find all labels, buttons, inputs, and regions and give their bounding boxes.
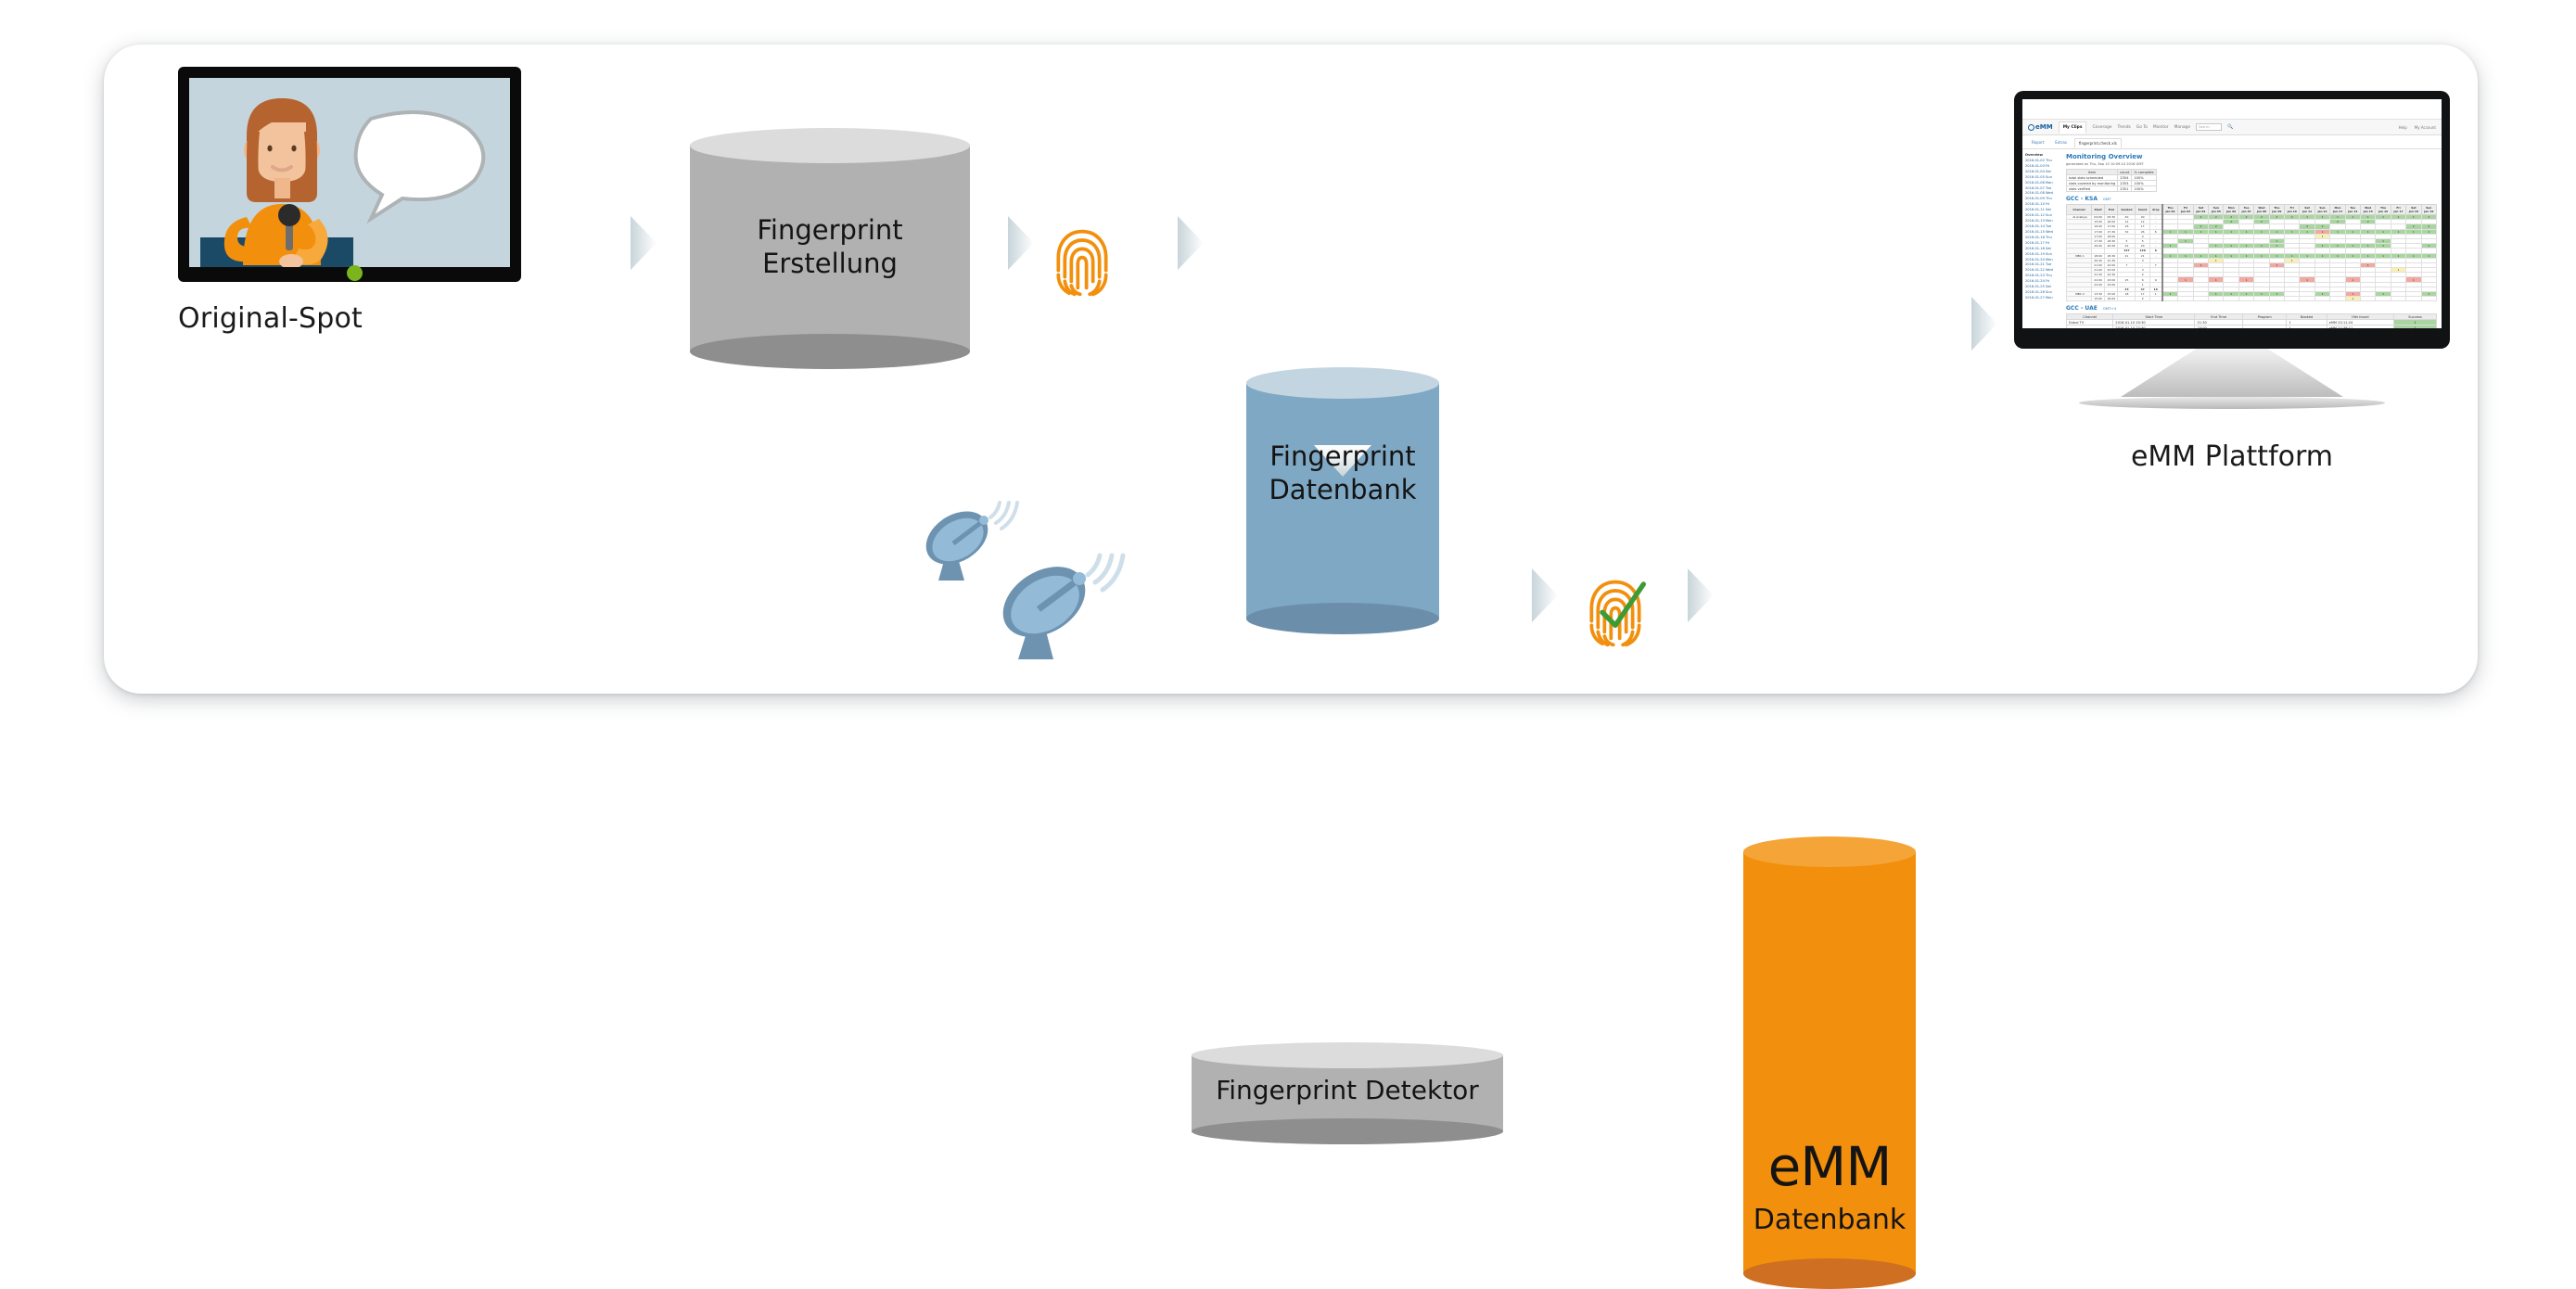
grid-day-cell: 1 (2345, 297, 2360, 301)
tv-frame (178, 67, 521, 282)
help-link[interactable]: Help (2399, 125, 2407, 130)
grid-day-cell (2300, 297, 2315, 301)
summary-cell: 2351 (2118, 186, 2132, 192)
tv-power-led (347, 265, 363, 281)
dashboard-body: Overview 2016-01-02 Thu2016-01-03 Fri201… (2022, 149, 2442, 328)
grid-col-header: Start (2092, 205, 2105, 215)
grid-day-cell (2315, 297, 2329, 301)
grid-day-cell (2421, 297, 2436, 301)
grid-day-header: TueJan 07 (2238, 205, 2253, 215)
region-header-uae: GCC - UAE GMT+4 (2066, 305, 2437, 312)
chevron-right-icon (1688, 568, 1714, 622)
original-spot-label: Original-Spot (178, 302, 549, 335)
emm-datenbank-node: eMM Datenbank (1743, 836, 1916, 1289)
region-name: GCC - KSA (2066, 196, 2098, 202)
grid-col-header: booked (2118, 205, 2136, 215)
grid-day-cell (2209, 297, 2224, 301)
nav-item-trends[interactable]: Trends (2117, 125, 2130, 130)
summary-cell: 100% (2132, 186, 2156, 192)
grid-day-header: FriJan 03 (2178, 205, 2193, 215)
emm-plattform-node: eMM My Clips Coverage Trends Go To Monit… (2014, 91, 2450, 473)
grid-day-header: MonJan 06 (2224, 205, 2238, 215)
search-input[interactable]: Search (2196, 123, 2222, 131)
uae-cell: 1 (2394, 325, 2437, 328)
monitor-stand (2121, 349, 2343, 397)
fingerprint-check-icon (1583, 571, 1648, 649)
search-icon[interactable]: 🔍 (2227, 124, 2233, 130)
fingerprint-detektor-node: Fingerprint Detektor (1192, 1042, 1503, 1144)
grid-day-cell (2285, 297, 2300, 301)
account-links: Help My Account (2399, 125, 2436, 130)
grid-cell-start: 15:00 (2092, 297, 2105, 301)
emm-logo: eMM (2028, 123, 2053, 131)
grid-day-header: SatJan 18 (2406, 205, 2421, 215)
dashboard-navbar: eMM My Clips Coverage Trends Go To Monit… (2022, 120, 2442, 135)
cylinder-top (690, 128, 970, 163)
chevron-right-icon (1178, 216, 1204, 270)
uae-cell: 23:00 (2195, 325, 2242, 328)
grid-cell-found: 2 (2136, 297, 2149, 301)
summary-table-body: total slots scheduled2354100%slots cover… (2067, 175, 2157, 192)
presenter-illustration (189, 78, 510, 267)
nav-item-monitor[interactable]: Monitor (2153, 125, 2169, 130)
emm-dashboard: eMM My Clips Coverage Trends Go To Monit… (2022, 99, 2442, 328)
grid-day-cell (2376, 297, 2391, 301)
uae-table: ChannelStart TimeEnd TimeProgramBookedHi… (2066, 313, 2437, 328)
region-header-ksa: GCC - KSA GMT (2066, 196, 2437, 202)
grid-day-header: SunJan 19 (2421, 205, 2436, 215)
grid-day-header: WedJan 08 (2254, 205, 2269, 215)
grid-row: 15:0016:0021 (2067, 297, 2437, 301)
cylinder-body (690, 145, 970, 352)
grid-day-cell (2406, 297, 2421, 301)
summary-cell: slots verified (2067, 186, 2118, 192)
grid-cell-channel (2067, 297, 2092, 301)
cylinder-top (1743, 836, 1916, 867)
fingerprint-erstellung-node: Fingerprint Erstellung (690, 128, 970, 369)
dashboard-main: Monitoring Overview generated on Thu, Se… (2061, 149, 2442, 328)
chevron-right-icon (1008, 216, 1034, 270)
grid-day-header: ThuJan 09 (2269, 205, 2284, 215)
diagram-card: Original-Spot Fingerprint Erstellung (104, 45, 2478, 694)
grid-day-cell (2178, 297, 2193, 301)
dashboard-subtabs: Report Extras fingerprint.check.xls (2022, 135, 2442, 149)
my-account-link[interactable]: My Account (2415, 125, 2436, 130)
page-title: Monitoring Overview (2066, 153, 2437, 160)
grid-day-cell (2224, 297, 2238, 301)
uae-table-body: Dubai TV2016-01-10 20:3021:301eMM 20:11:… (2067, 320, 2437, 328)
grid-col-header: Channel (2067, 205, 2092, 215)
cylinder-body (1743, 851, 1916, 1274)
grid-day-header: ThuJan 02 (2162, 205, 2178, 215)
grid-day-cell (2361, 297, 2376, 301)
monitor-screen: eMM My Clips Coverage Trends Go To Monit… (2022, 99, 2442, 328)
cylinder-bottom (1246, 603, 1439, 634)
chevron-right-icon (631, 216, 657, 270)
grid-day-cell (2254, 297, 2269, 301)
grid-day-header: SatJan 04 (2193, 205, 2208, 215)
grid-col-header: End (2105, 205, 2118, 215)
emm-plattform-label: eMM Plattform (2014, 440, 2450, 473)
uae-cell (2242, 325, 2287, 328)
logo-text: eMM (2035, 123, 2053, 131)
uae-cell: 1 (2287, 325, 2327, 328)
grid-day-header: SunJan 12 (2315, 205, 2329, 215)
grid-day-header: FriJan 10 (2285, 205, 2300, 215)
generated-timestamp: generated on Thu, Sep 15 10:09:10 2016 G… (2066, 162, 2437, 166)
grid-day-cell (2238, 297, 2253, 301)
grid-col-header: found (2136, 205, 2149, 215)
cylinder-bottom (1192, 1118, 1503, 1144)
grid-cell-end: 16:00 (2105, 297, 2118, 301)
summary-table: itemcount% complete total slots schedule… (2066, 169, 2157, 192)
grid-day-header: MonJan 13 (2330, 205, 2345, 215)
chevron-right-icon (1971, 297, 1997, 351)
nav-item-coverage[interactable]: Coverage (2092, 125, 2111, 130)
uae-cell: 2016-01-10 22:30 (2113, 325, 2195, 328)
logo-ring-icon (2028, 124, 2034, 131)
grid-day-header: SunJan 05 (2209, 205, 2224, 215)
original-spot-node: Original-Spot (178, 67, 549, 335)
grid-day-cell (2193, 297, 2208, 301)
subtab-report[interactable]: Report (2028, 138, 2047, 148)
cylinder-top (1246, 367, 1439, 399)
uae-row: 2016-01-10 22:3023:001eMM 22:38:111 (2067, 325, 2437, 328)
grid-day-cell (2162, 297, 2178, 301)
uae-cell (2067, 325, 2113, 328)
chevron-right-icon (1532, 568, 1558, 622)
nav-item-manage[interactable]: Manage (2174, 125, 2190, 130)
grid-day-header: TueJan 14 (2345, 205, 2360, 215)
sidebar-date-item[interactable]: 2016-01-27 Mon (2025, 296, 2059, 301)
cylinder-bottom (1743, 1258, 1916, 1289)
cylinder-body (1246, 382, 1439, 619)
region-name: GCC - UAE (2066, 305, 2098, 312)
uae-cell: eMM 22:38:11 (2327, 325, 2393, 328)
grid-col-header: drop (2149, 205, 2162, 215)
region-timezone: GMT (2103, 197, 2111, 201)
browser-chrome (2022, 99, 2442, 120)
region-timezone: GMT+4 (2103, 306, 2116, 311)
sidebar-date-list: 2016-01-02 Thu2016-01-03 Fri2016-01-04 S… (2025, 159, 2059, 301)
grid-day-header: FriJan 17 (2391, 205, 2405, 215)
summary-row: slots verified2351100% (2067, 186, 2157, 192)
grid-cell-drop (2149, 297, 2162, 301)
grid-day-cell (2330, 297, 2345, 301)
subtab-extras[interactable]: Extras (2051, 138, 2071, 148)
monitor-frame: eMM My Clips Coverage Trends Go To Monit… (2014, 91, 2450, 349)
fingerprint-datenbank-node: Fingerprint Datenbank (1246, 367, 1439, 634)
grid-cell-booked (2118, 297, 2136, 301)
nav-item-go-to[interactable]: Go To (2136, 125, 2148, 130)
grid-day-cell (2269, 297, 2284, 301)
grid-day-header: WedJan 15 (2361, 205, 2376, 215)
fingerprint-icon (1050, 221, 1115, 299)
subtab-fingerprint-check[interactable]: fingerprint.check.xls (2074, 138, 2122, 148)
satellite-dish-icon (994, 550, 1129, 676)
dashboard-sidebar: Overview 2016-01-02 Thu2016-01-03 Fri201… (2022, 149, 2061, 328)
grid-day-cell (2391, 297, 2405, 301)
cylinder-top (1192, 1042, 1503, 1068)
monitoring-grid-body: Al Arabiya04:0005:304040-222222211111111… (2067, 215, 2437, 301)
monitor-base (2079, 397, 2385, 409)
grid-day-header: ThuJan 16 (2376, 205, 2391, 215)
cylinder-bottom (690, 334, 970, 369)
monitoring-grid: ChannelStartEndbookedfounddropThuJan 02F… (2066, 204, 2437, 301)
monitoring-grid-header: ChannelStartEndbookedfounddropThuJan 02F… (2067, 205, 2437, 215)
tv-screen (189, 78, 510, 267)
nav-item-my-clips[interactable]: My Clips (2059, 121, 2087, 134)
grid-day-header: SatJan 11 (2300, 205, 2315, 215)
